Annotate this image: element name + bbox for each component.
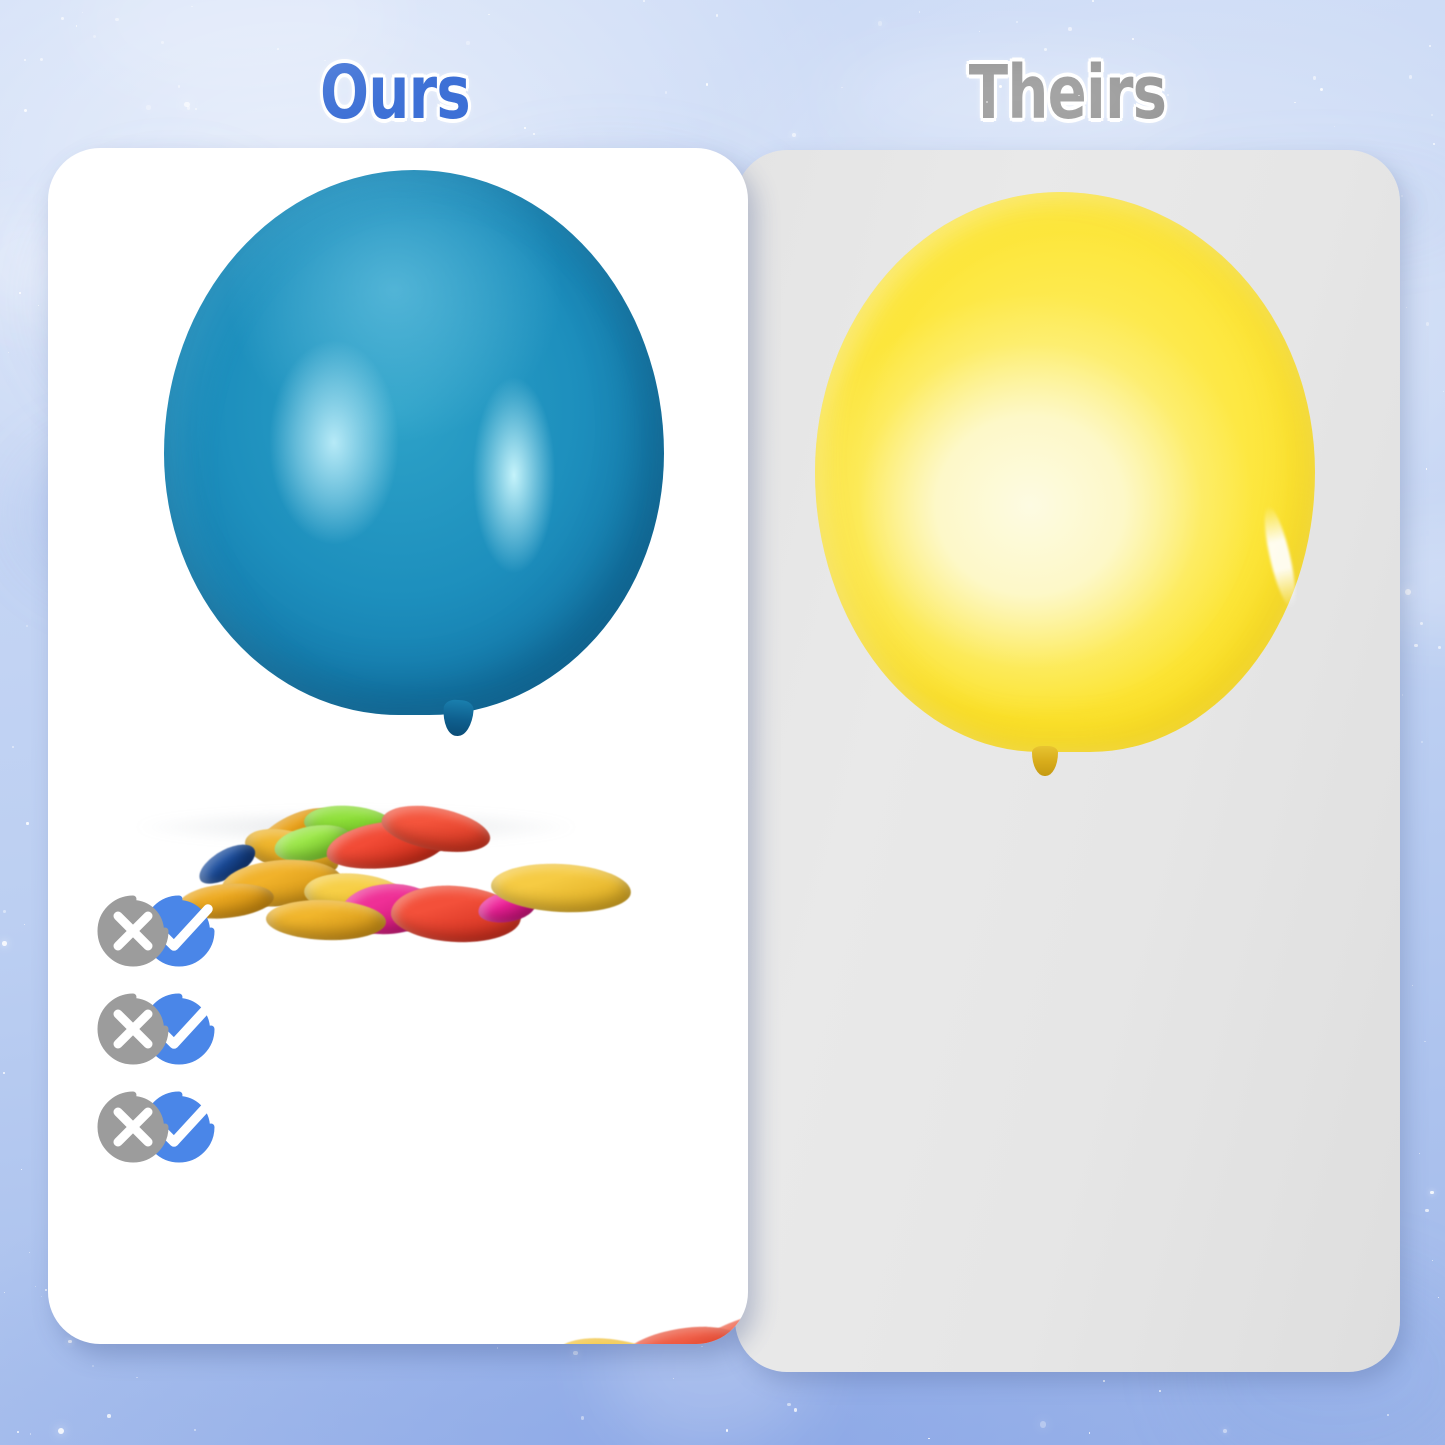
teal-balloon-image bbox=[164, 170, 664, 715]
deflated-pile-shadow bbox=[108, 803, 728, 851]
card-theirs bbox=[735, 150, 1400, 1372]
column-title-theirs: Theirs bbox=[808, 56, 1327, 130]
x-circle-icon bbox=[92, 988, 174, 1070]
x-circle-icon bbox=[92, 890, 174, 972]
balloon-knot bbox=[1032, 746, 1058, 776]
yellow-balloon-image bbox=[815, 192, 1315, 752]
column-title-ours: Ours bbox=[122, 56, 668, 130]
x-circle-icon bbox=[92, 1086, 174, 1168]
comparison-infographic: Ours Theirs Great Texture bbox=[0, 0, 1445, 1445]
balloon-neck bbox=[442, 699, 474, 737]
